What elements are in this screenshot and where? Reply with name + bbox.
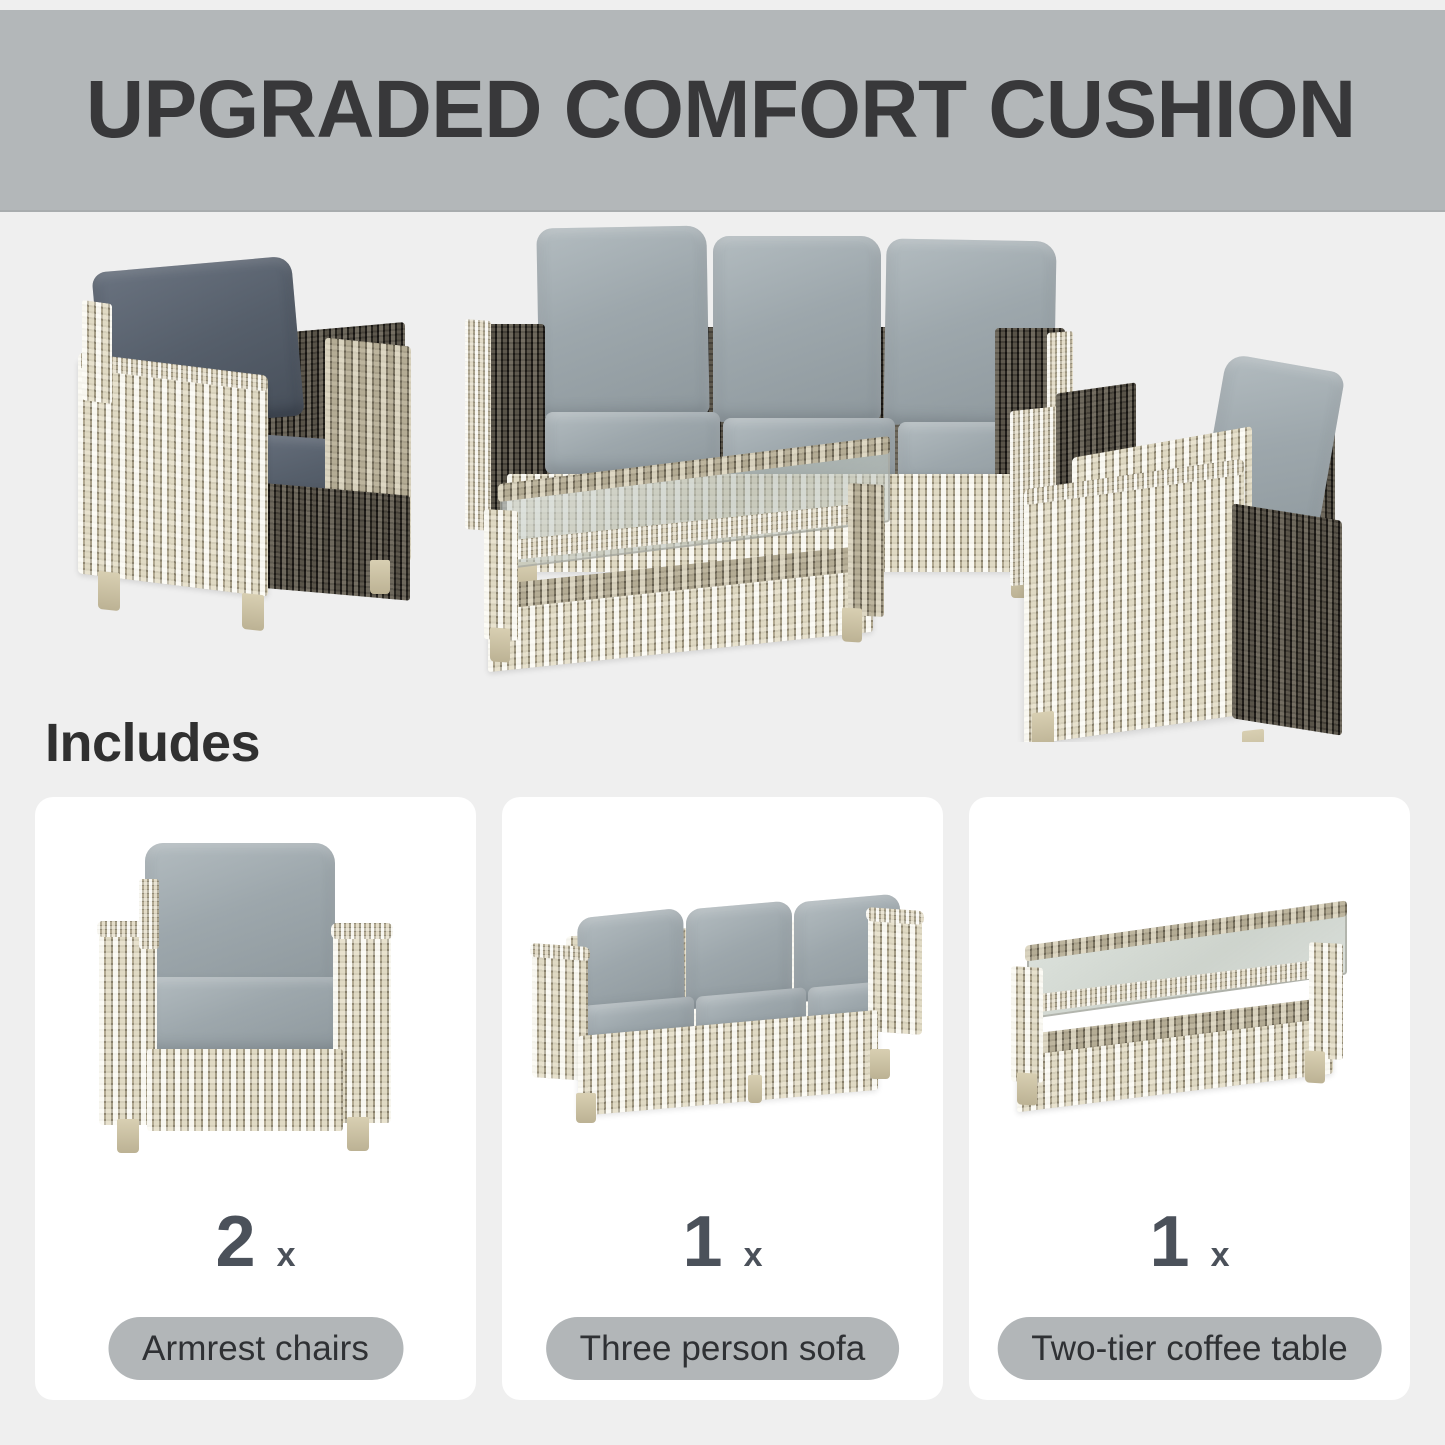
c2-leg-left: [576, 1093, 596, 1123]
chair-r-side-body: [1232, 503, 1342, 735]
c1-leg-left: [117, 1119, 139, 1153]
chair-leg-front-right: [242, 593, 264, 631]
card-count-three-person-sofa: 1x: [502, 1201, 943, 1283]
sofa-back-cushion-2: [713, 236, 881, 422]
table-leg-right: [842, 607, 862, 642]
includes-card-three-person-sofa[interactable]: 1x Three person sofa: [502, 797, 943, 1400]
includes-heading: Includes: [45, 712, 260, 774]
count-number: 1: [683, 1202, 722, 1282]
three-person-sofa-product-photo: [502, 797, 943, 1197]
card-label-text: Three person sofa: [580, 1329, 866, 1369]
two-tier-coffee-table-product-photo: [969, 797, 1410, 1197]
includes-card-row: 2x Armrest chairs: [35, 797, 1410, 1400]
armrest-chair-product-photo: [35, 797, 476, 1197]
hero-armrest-chair-left: [70, 242, 420, 632]
c2-leg-right: [870, 1049, 890, 1079]
chair-leg-back-right: [370, 560, 390, 594]
table-post-front-right: [848, 483, 884, 617]
sofa-back-cushion-1: [536, 226, 709, 419]
chair-r-near-panel: [1024, 465, 1244, 742]
chair-back-upright: [82, 300, 112, 404]
c3-post-right: [1309, 942, 1343, 1060]
count-multiplier: x: [744, 1236, 763, 1274]
table-post-front-left: [484, 509, 518, 641]
card-label-text: Two-tier coffee table: [1031, 1329, 1348, 1369]
c3-leg-left: [1017, 1072, 1037, 1105]
card-label-pill-three-person-sofa: Three person sofa: [546, 1317, 900, 1380]
c1-leg-right: [347, 1117, 369, 1151]
infographic-page: UPGRADED COMFORT CUSHION: [0, 0, 1445, 1445]
card-label-pill-armrest-chairs: Armrest chairs: [108, 1317, 403, 1380]
c1-front-skirt: [147, 1049, 343, 1131]
table-leg-left: [490, 627, 510, 662]
c1-seat-cushion: [147, 977, 343, 1053]
hero-coffee-table: [470, 460, 910, 675]
chair-leg-front-left: [98, 571, 120, 611]
count-number: 2: [216, 1202, 255, 1282]
card-label-pill-two-tier-coffee-table: Two-tier coffee table: [997, 1317, 1382, 1380]
hero-armrest-chair-right: [1010, 362, 1380, 742]
card-count-two-tier-coffee-table: 1x: [969, 1201, 1410, 1283]
includes-card-two-tier-coffee-table[interactable]: 1x Two-tier coffee table: [969, 797, 1410, 1400]
page-title: UPGRADED COMFORT CUSHION: [86, 63, 1356, 157]
c3-post-left: [1011, 966, 1043, 1083]
header-banner: UPGRADED COMFORT CUSHION: [0, 10, 1445, 212]
chair-r-leg-right: [1242, 729, 1264, 742]
count-multiplier: x: [277, 1236, 296, 1274]
c1-back-cushion: [145, 843, 335, 993]
c2-leg-mid: [748, 1075, 762, 1103]
c1-right-arm-rail: [331, 923, 393, 939]
card-count-armrest-chairs: 2x: [35, 1201, 476, 1283]
c3-leg-right: [1305, 1050, 1325, 1083]
card-label-text: Armrest chairs: [142, 1329, 369, 1369]
includes-card-armrest-chairs[interactable]: 2x Armrest chairs: [35, 797, 476, 1400]
chair-r-leg-front: [1032, 711, 1054, 742]
count-multiplier: x: [1211, 1236, 1230, 1274]
hero-product-scene: [0, 212, 1445, 742]
c1-back-upright: [139, 879, 159, 949]
count-number: 1: [1150, 1202, 1189, 1282]
